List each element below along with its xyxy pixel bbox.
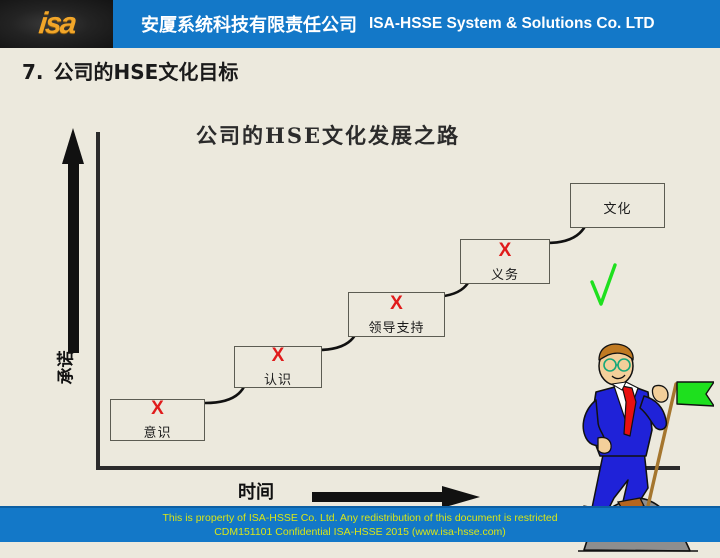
slide-number: 7. — [22, 60, 44, 84]
header-company-name-cn: 安厦系统科技有限责任公司 — [141, 11, 357, 37]
step-box-4[interactable]: X 义务 — [460, 239, 550, 284]
step-box-1[interactable]: X 意识 — [110, 399, 205, 441]
header-title-bar: 安厦系统科技有限责任公司 ISA-HSSE System & Solutions… — [113, 0, 720, 48]
slide-footer: This is property of ISA-HSSE Co. Ltd. An… — [0, 506, 720, 542]
step-2-label: 认识 — [264, 369, 292, 388]
footer-confidential-line: CDM151101 Confidential ISA-HSSE 2015 (ww… — [214, 525, 506, 539]
step-4-label: 义务 — [491, 264, 519, 283]
step-2-cross-icon: X — [272, 346, 285, 365]
slide-title-text: 公司的HSE文化目标 — [54, 60, 239, 84]
page-title: 7.公司的HSE文化目标 — [22, 56, 238, 85]
x-arrow-shaft — [312, 492, 444, 502]
step-box-5[interactable]: 文化 — [570, 183, 665, 228]
header-company-name-en: ISA-HSSE System & Solutions Co. LTD — [369, 15, 655, 33]
step-box-2[interactable]: X 认识 — [234, 346, 322, 388]
slide-root: isa 安厦系统科技有限责任公司 ISA-HSSE System & Solut… — [0, 0, 720, 542]
logo-area: isa — [0, 0, 113, 48]
x-axis-label: 时间 — [238, 478, 274, 504]
up-arrow-head — [62, 128, 84, 164]
commitment-up-arrow-icon — [62, 128, 84, 353]
chart-area: 公司的HSE文化发展之路 承诺 时间 — [0, 100, 720, 505]
green-check-icon — [588, 263, 620, 309]
step-5-label: 文化 — [603, 198, 631, 217]
isa-logo: isa — [37, 7, 76, 41]
step-4-cross-icon: X — [499, 241, 512, 260]
chart-title: 公司的HSE文化发展之路 — [196, 120, 460, 150]
y-axis-label: 承诺 — [52, 357, 77, 385]
step-3-cross-icon: X — [390, 294, 403, 313]
x-arrow-head — [442, 486, 480, 508]
footer-copyright-line: This is property of ISA-HSSE Co. Ltd. An… — [162, 511, 557, 525]
time-right-arrow-icon — [312, 486, 480, 508]
y-axis-line — [96, 132, 100, 467]
step-box-3[interactable]: X 领导支持 — [348, 292, 445, 337]
step-3-label: 领导支持 — [368, 317, 424, 336]
step-1-cross-icon: X — [151, 399, 164, 418]
slide-header: isa 安厦系统科技有限责任公司 ISA-HSSE System & Solut… — [0, 0, 720, 48]
step-1-label: 意识 — [143, 422, 171, 441]
up-arrow-shaft — [68, 160, 79, 353]
